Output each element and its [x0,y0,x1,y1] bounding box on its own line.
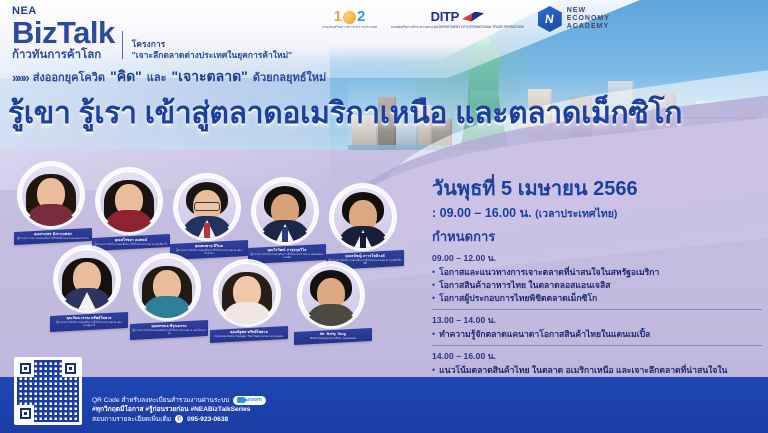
footer-hashtags: #ทุกวิกฤตมีโอกาส #รู้ก่อนรวยก่อน #NEABiz… [92,405,250,415]
speaker-nameplate: คุณกนกพร อังกาบเพชร ผู้อำนวยการกอง กองส่… [14,228,92,245]
footer-hashtags-row: #ทุกวิกฤตมีโอกาส #รู้ก่อนรวยก่อน #NEABiz… [92,405,266,415]
speaker-photo [56,248,118,310]
bullet-icon: • [432,293,435,304]
footer-qr-note-row: QR Code สำหรับลงทะเบียนสำรวมงานผ่านระบบ … [92,396,266,406]
bullet-icon: • [432,267,435,278]
agenda-slot: 09.00 – 12.00 น. [432,251,762,265]
speaker-name: Mr. Betty Tang [296,332,370,336]
speaker-card[interactable]: คุณกนกพร อังกาบเพชร ผู้อำนวยการกอง กองส่… [14,164,88,243]
partner-logos: 1 2 กรมส่งเสริมการค้าระหว่างประเทศ DITP … [322,6,610,32]
speaker-card[interactable]: คุณธนัชญ์ ถาวรโชติวงศ์ ผู้อำนวยการสำนักง… [326,186,400,268]
speaker-photo [20,164,82,226]
project-label: โครงการ [132,39,292,50]
agenda-block: 13.00 – 14.00 น. •ทำความรู้จักตลาดแคนาดา… [432,309,762,340]
speaker-nameplate: คุณณัฐพล ทรัพย์ไพศาล Corporate Partner M… [210,326,288,343]
speaker-photo [300,264,362,326]
speaker-name: คุณวัฒนวรรณ ทรัพย์ไพศาล [52,316,126,320]
agenda-item-text: โอกาสผู้ประกอบการไทยพิชิตตลาดเม็กซิโก [439,293,597,304]
main-headline: รู้เขา รู้เรา เข้าสู่ตลาดอเมริกาเหนือ แล… [8,90,682,137]
agenda-block: 09.00 – 12.00 น. •โอกาสและแนวทางการเจาะต… [432,251,762,304]
brand-divider [122,31,123,59]
brand-block: NEA BizTalk ก้าวทันการค้าโลก โครงการ "เจ… [12,6,326,88]
speaker-card[interactable]: คุณณัฐพล ทรัพย์ไพศาล Corporate Partner M… [210,262,284,341]
zoom-label: zoom [247,396,261,406]
brand-tagline: ก้าวทันการค้าโลก [12,49,115,62]
speaker-role: ผู้อำนวยการสำนักงานส่งเสริมการค้าในต่างป… [250,253,324,259]
sub-pre-text: ส่งออกยุคโควิด [33,68,105,86]
speaker-nameplate: คุณพรกมล พิรุณธรรม ผู้อำนวยการสำนักงานส่… [130,320,208,340]
bullet-icon: • [432,280,435,291]
agenda-item: •โอกาสสินค้าอาหารไทย ในตลาดลอสแอนเจลิส [432,280,762,291]
speaker-role: ผู้อำนวยการสำนักงานส่งเสริมการค้าในต่างป… [52,321,126,327]
biztalk-title: BizTalk [12,17,115,49]
anniversary-102-logo: 1 2 กรมส่งเสริมการค้าระหว่างประเทศ [322,9,377,30]
sub-headline: »»» ส่งออกยุคโควิด "คิด" และ "เจาะตลาด" … [12,66,326,88]
speakers-grid: คุณกนกพร อังกาบเพชร ผู้อำนวยการกอง กองส่… [4,160,408,355]
footer-qr-note: QR Code สำหรับลงทะเบียนสำรวมงานผ่านระบบ [92,396,229,406]
footer-text: QR Code สำหรับลงทะเบียนสำรวมงานผ่านระบบ … [92,396,266,425]
speaker-role: ผู้อำนวยการกอง กองส่งเสริมการค้าสินค้าเก… [16,237,90,240]
speaker-photo [136,256,198,318]
ditp-swoosh-icon [462,12,484,22]
sub-quote-1: "คิด" [110,66,142,88]
bullet-icon: • [432,329,435,340]
agenda-heading: กำหนดการ [432,226,762,247]
speaker-name: คุณสมชาย มีวิมล [172,244,246,248]
speaker-card[interactable]: คุณสโรชยา คมพจน์ ผู้อำนวยการสำนักงานส่งเ… [92,170,166,249]
speaker-photo [332,186,394,248]
speaker-name: คุณวีรวัฒน์ ภาสุรกุลวิไล [250,248,324,252]
speaker-name: คุณพรกมล พิรุณธรรม [132,324,206,328]
speaker-name: คุณณัฐพล ทรัพย์ไพศาล [212,330,286,334]
speaker-card[interactable]: Mr. Betty Tang Brand Development Officer… [294,264,368,343]
agenda-item: •โอกาสและแนวทางการเจาะตลาดที่น่าสนใจในสห… [432,267,762,278]
speaker-card[interactable]: คุณสมชาย มีวิมล ผู้อำนวยการสำนักงานส่งเส… [170,176,244,258]
qr-code[interactable] [14,357,82,425]
footer-contact-row: สอบถามรายละเอียดเพิ่มเติม ✆ 095-923-0638 [92,415,266,425]
agenda-item: •ทำความรู้จักตลาดแคนาดาโอกาสสินค้าไทยในแ… [432,329,762,340]
speaker-name: คุณกนกพร อังกาบเพชร [16,232,90,236]
anniversary-caption: กรมส่งเสริมการค้าระหว่างประเทศ [322,25,377,30]
poster: NEA BizTalk ก้าวทันการค้าโลก โครงการ "เจ… [0,0,768,433]
new-economy-academy-logo: N NEW ECONOMY ACADEMY [538,6,610,32]
chevrons-icon: »»» [12,70,28,85]
ditp-caption: กรมส่งเสริมการค้าระหว่างประเทศ DEPARTMEN… [391,25,524,29]
event-date: วันพุธที่ 5 เมษายน 2566 [432,178,762,201]
nea-hex-icon: N [538,6,562,32]
agenda-item-text: โอกาสสินค้าอาหารไทย ในตลาดลอสแอนเจลิส [439,280,610,291]
event-details: วันพุธที่ 5 เมษายน 2566 : 09.00 – 16.00 … [432,178,762,387]
anniversary-digit-2: 2 [357,9,365,24]
sub-quote-2: "เจาะตลาด" [172,66,248,88]
time-prefix: : [432,206,436,220]
ditp-wordmark: DITP [431,9,459,24]
anniversary-digit-1: 1 [334,9,342,24]
speaker-photo [98,170,160,232]
speaker-role: ผู้อำนวยการสำนักงานส่งเสริมการค้าในต่างป… [94,243,168,246]
speaker-photo [254,180,316,242]
nea-hex-letter: N [544,12,555,26]
qr-eye-icon [62,360,79,377]
speaker-photo [216,262,278,324]
speaker-name: คุณธนัชญ์ ถาวรโชติวงศ์ [328,254,402,258]
video-camera-icon [237,397,245,403]
sub-post-text: ด้วยกลยุทธ์ใหม่ [253,68,326,86]
nea-line-2: ECONOMY [567,15,610,23]
speaker-role: ผู้อำนวยการสำนักงานส่งเสริมการค้าในต่างป… [172,249,246,255]
agenda-item-text: ทำความรู้จักตลาดแคนาดาโอกาสสินค้าไทยในแด… [439,329,650,340]
agenda-slot: 14.00 – 16.00 น. [432,349,762,363]
speaker-role: Corporate Partner Manager, Thai Trade Ce… [212,335,286,338]
speaker-role: Brand Development Officer, Agricultural [296,337,370,340]
speaker-name: คุณสโรชยา คมพจน์ [94,238,168,242]
zoom-logo-icon: zoom [233,396,265,405]
event-timezone: (เวลาประเทศไทย) [535,208,617,220]
event-time-row: : 09.00 – 16.00 น. (เวลาประเทศไทย) [432,203,762,223]
ditp-logo: DITP กรมส่งเสริมการค้าระหว่างประเทศ DEPA… [391,9,524,29]
qr-eye-icon [17,360,34,377]
footer-contact-label: สอบถามรายละเอียดเพิ่มเติม [92,415,171,425]
agenda-slot: 13.00 – 14.00 น. [432,313,762,327]
footer-phone: 095-923-0638 [187,415,228,425]
speaker-card[interactable]: คุณพรกมล พิรุณธรรม ผู้อำนวยการสำนักงานส่… [130,256,204,338]
speaker-role: ผู้อำนวยการสำนักงานส่งเสริมการค้าในต่างป… [132,329,206,335]
anniversary-digit-0 [343,11,356,24]
nea-line-1: NEW [567,7,610,15]
speaker-card[interactable]: คุณวีรวัฒน์ ภาสุรกุลวิไล ผู้อำนวยการสำนั… [248,180,322,262]
speaker-card[interactable]: คุณวัฒนวรรณ ทรัพย์ไพศาล ผู้อำนวยการสำนัก… [50,248,124,330]
speaker-photo [176,176,238,238]
event-time: 09.00 – 16.00 น. [440,206,532,220]
project-name: "เจาะลึกตลาดต่างประเทศในยุคการค้าใหม่" [132,50,292,61]
nea-line-3: ACADEMY [567,23,610,31]
agenda-item-text: โอกาสและแนวทางการเจาะตลาดที่น่าสนใจในสหร… [439,267,659,278]
speaker-nameplate: คุณวัฒนวรรณ ทรัพย์ไพศาล ผู้อำนวยการสำนัก… [50,312,128,332]
sub-mid-text: และ [147,68,167,86]
phone-icon: ✆ [175,415,183,423]
agenda-item: •โอกาสผู้ประกอบการไทยพิชิตตลาดเม็กซิโก [432,293,762,304]
qr-eye-icon [17,405,34,422]
speaker-nameplate: Mr. Betty Tang Brand Development Officer… [294,328,372,345]
